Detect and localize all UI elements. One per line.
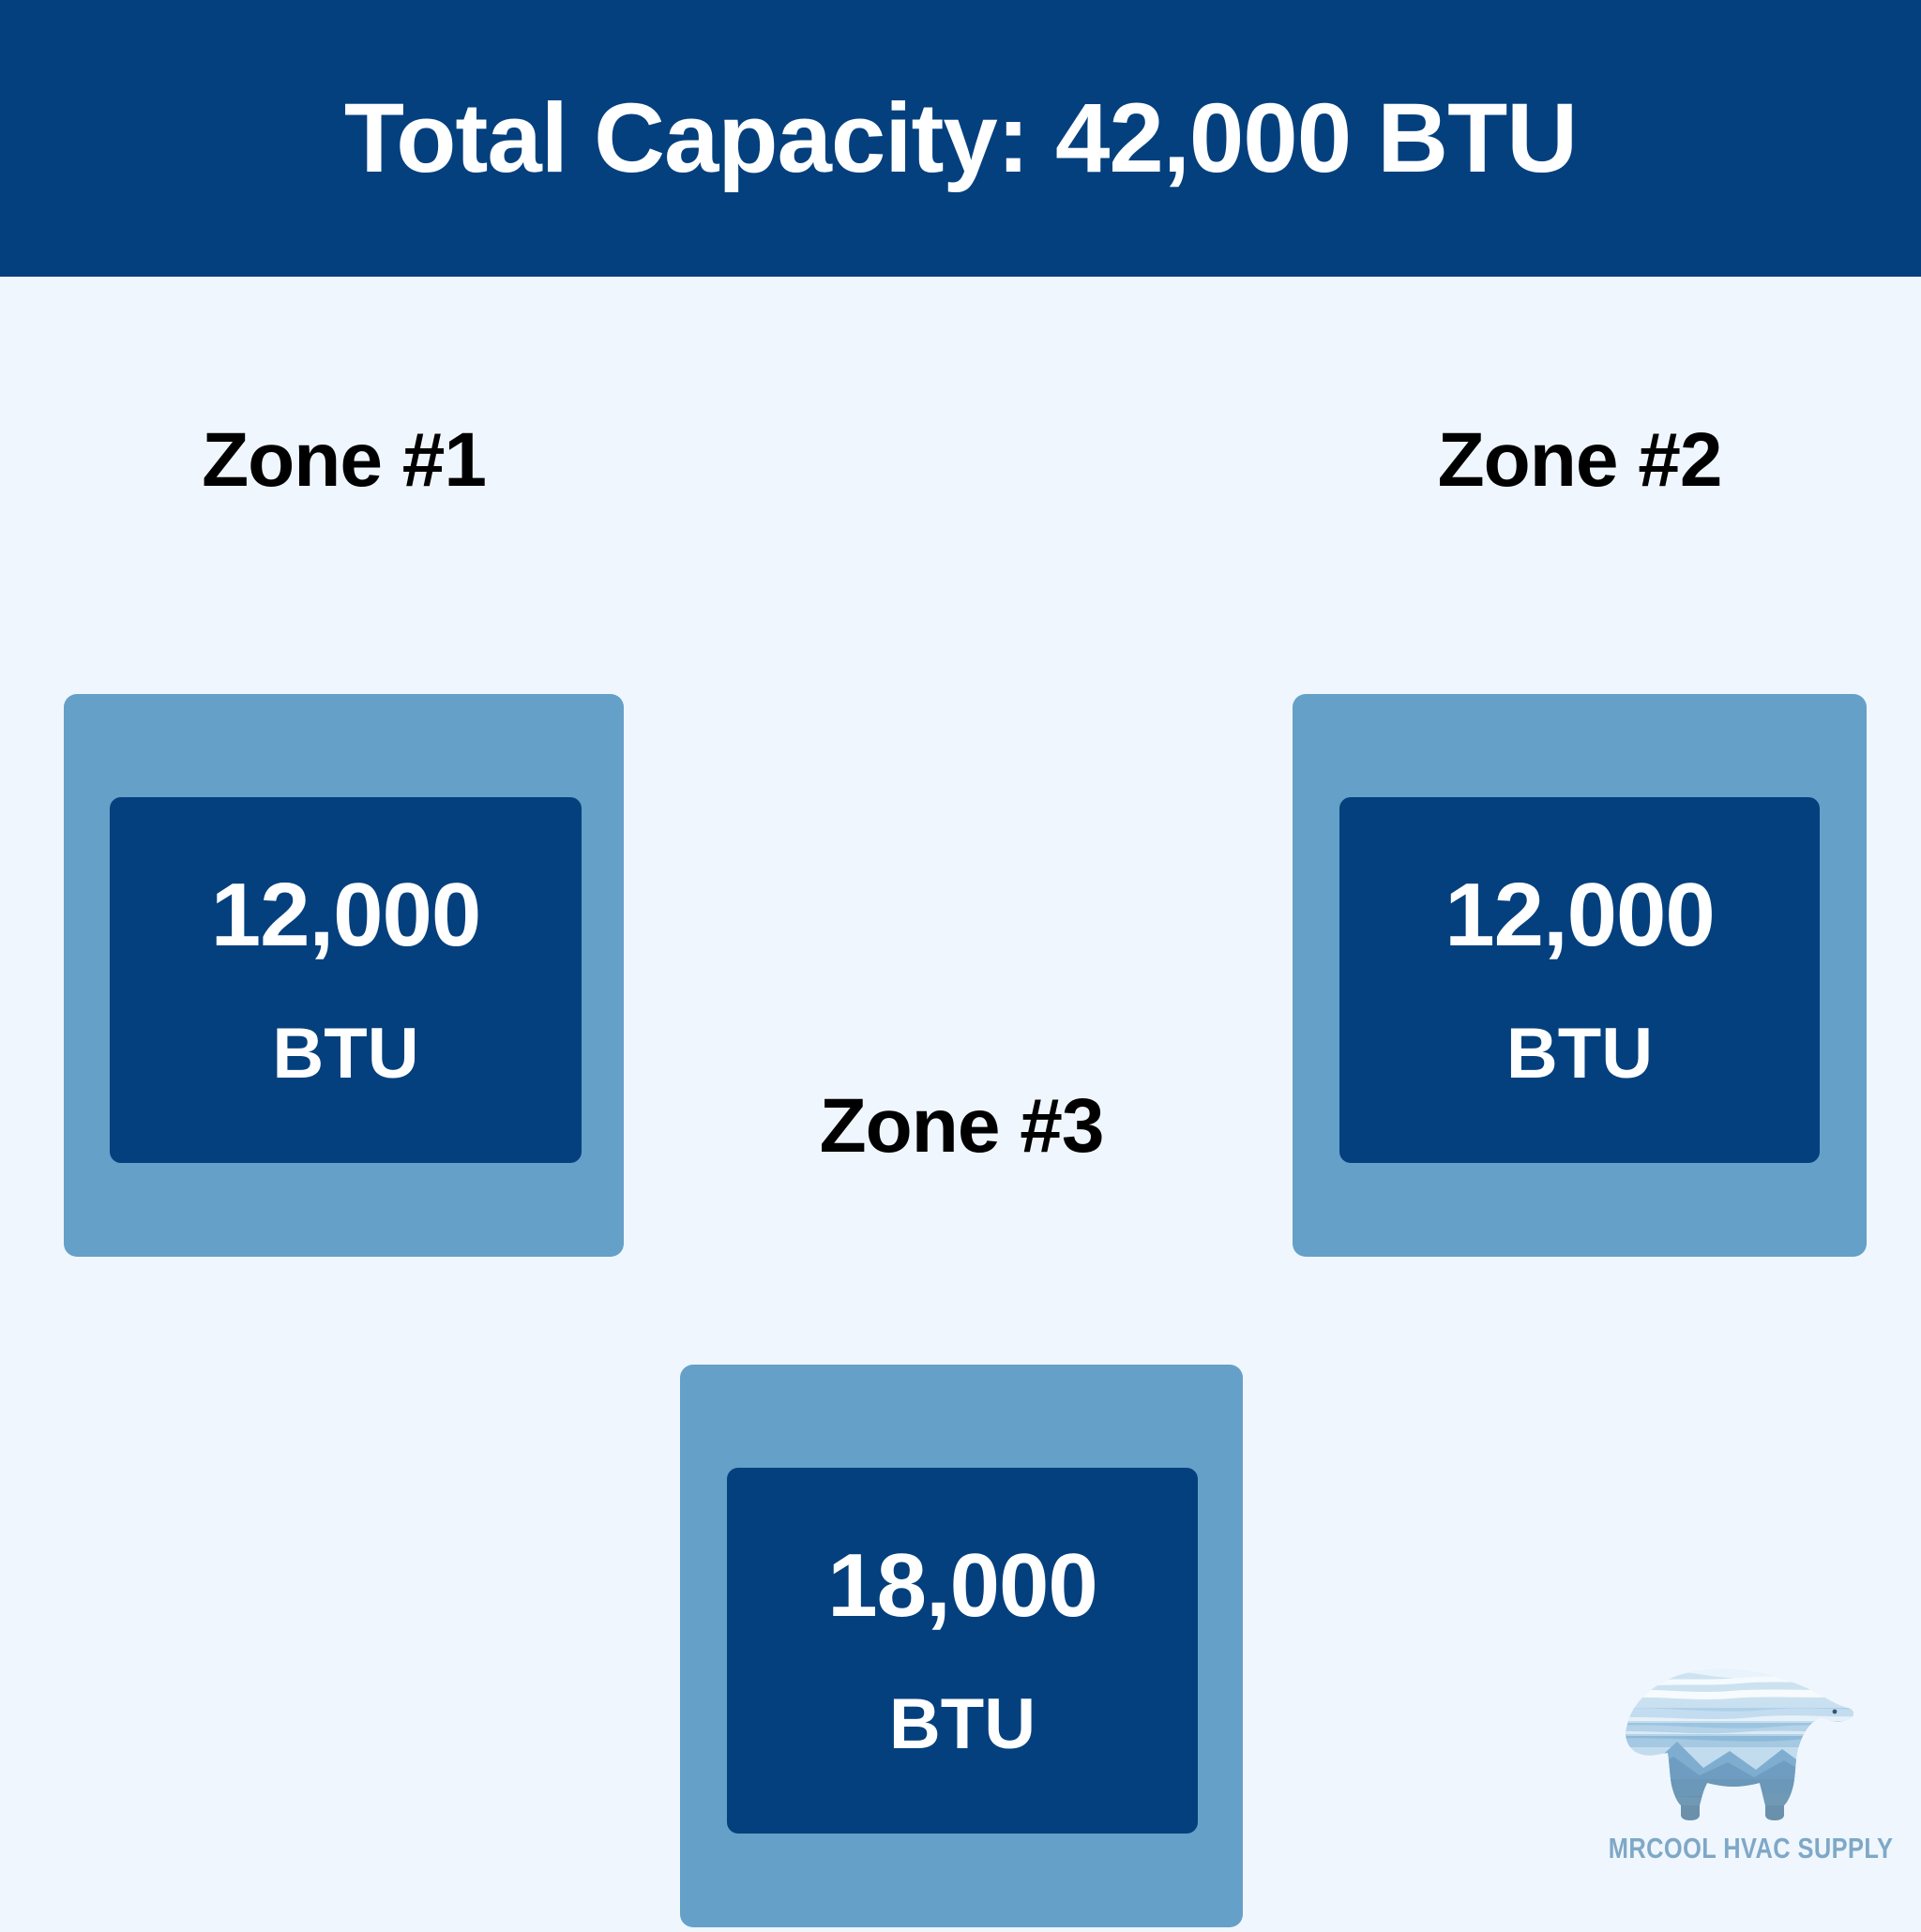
header-banner: Total Capacity: 42,000 BTU	[0, 0, 1921, 277]
zone-card-inner-2: 12,000 BTU	[1339, 797, 1820, 1163]
brand-logo-text: MRCOOL HVAC SUPPLY	[1609, 1832, 1854, 1865]
zone-btu-unit-1: BTU	[272, 1019, 418, 1090]
polar-bear-icon	[1598, 1665, 1866, 1829]
zone-btu-value-2: 12,000	[1445, 870, 1715, 960]
zone-label-2: Zone #2	[1293, 422, 1867, 499]
zone-btu-unit-2: BTU	[1506, 1019, 1653, 1090]
zone-btu-unit-3: BTU	[889, 1689, 1036, 1760]
zone-label-3: Zone #3	[680, 1088, 1243, 1165]
zone-block-3: Zone #3 18,000 BTU	[680, 1088, 1243, 1932]
zone-label-1: Zone #1	[64, 422, 624, 499]
zone-card-inner-1: 12,000 BTU	[110, 797, 582, 1163]
zone-block-1: Zone #1 12,000 BTU	[64, 422, 624, 1257]
zone-card-outer-1: 12,000 BTU	[64, 694, 624, 1257]
zone-btu-value-3: 18,000	[827, 1541, 1097, 1631]
zone-card-outer-3: 18,000 BTU	[680, 1365, 1243, 1927]
zone-card-outer-2: 12,000 BTU	[1293, 694, 1867, 1257]
page-title: Total Capacity: 42,000 BTU	[344, 89, 1577, 188]
zone-block-2: Zone #2 12,000 BTU	[1293, 422, 1867, 1257]
zone-btu-value-1: 12,000	[211, 870, 481, 960]
zone-card-inner-3: 18,000 BTU	[727, 1468, 1198, 1834]
brand-logo: MRCOOL HVAC SUPPLY	[1581, 1665, 1882, 1890]
